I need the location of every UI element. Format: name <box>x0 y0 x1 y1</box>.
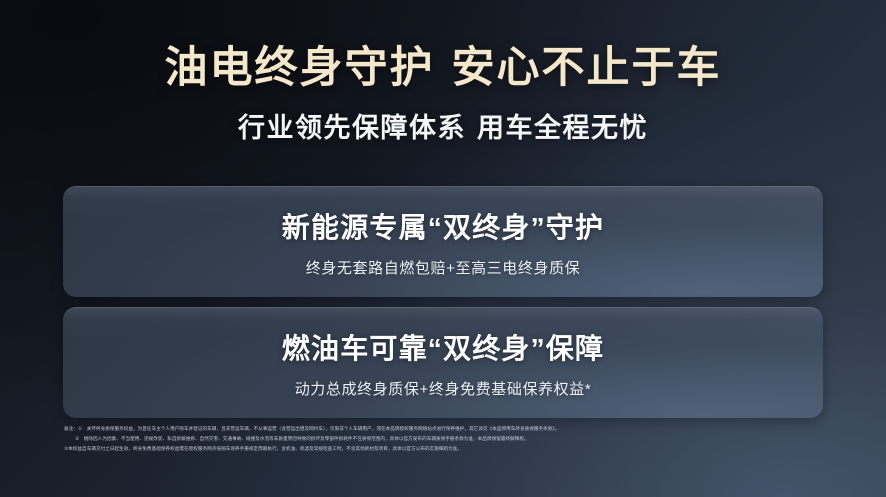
benefit-card-title: 燃油车可靠“双终身”保障 <box>282 327 604 367</box>
page-title-part1: 油电终身守护 <box>165 44 435 92</box>
disclaimer-line: 备注：① 关怀终身质保服务权益，为首任车主个人用户购车并登记的车辆，且非营运车辆… <box>64 424 834 434</box>
disclaimer-line: ② 剔除因人为因素、不当使用、违规改装、私自拆解维修、自然灾害、交通事故、碰撞及… <box>64 434 834 444</box>
disclaimer-line: ③本权益自车辆交付之日起生效，终身免费基础保养权益需在授权服务网点按随车保养手册… <box>64 444 834 454</box>
benefit-card-description: 动力总成终身质保+终身免费基础保养权益* <box>295 378 592 399</box>
page-subtitle: 行业领先保障体系用车全程无忧 <box>0 106 886 145</box>
page-subtitle-part2: 用车全程无忧 <box>477 113 648 143</box>
page-title: 油电终身守护安心不止于车 <box>0 44 886 92</box>
benefit-card-fuel[interactable]: 燃油车可靠“双终身”保障 动力总成终身质保+终身免费基础保养权益* <box>63 307 823 418</box>
header-block: 油电终身守护安心不止于车 行业领先保障体系用车全程无忧 <box>0 44 886 145</box>
page-title-part2: 安心不止于车 <box>452 44 722 92</box>
benefit-card-description: 终身无套路自燃包赔+至高三电终身质保 <box>306 257 581 278</box>
benefit-card-new-energy[interactable]: 新能源专属“双终身”守护 终身无套路自燃包赔+至高三电终身质保 <box>63 186 823 297</box>
disclaimer-block: 备注：① 关怀终身质保服务权益，为首任车主个人用户购车并登记的车辆，且非营运车辆… <box>64 424 834 454</box>
promo-slide: 油电终身守护安心不止于车 行业领先保障体系用车全程无忧 新能源专属“双终身”守护… <box>0 0 886 497</box>
benefit-card-title: 新能源专属“双终身”守护 <box>282 206 604 246</box>
page-subtitle-part1: 行业领先保障体系 <box>238 113 466 143</box>
benefit-card-list: 新能源专属“双终身”守护 终身无套路自燃包赔+至高三电终身质保 燃油车可靠“双终… <box>63 186 823 418</box>
